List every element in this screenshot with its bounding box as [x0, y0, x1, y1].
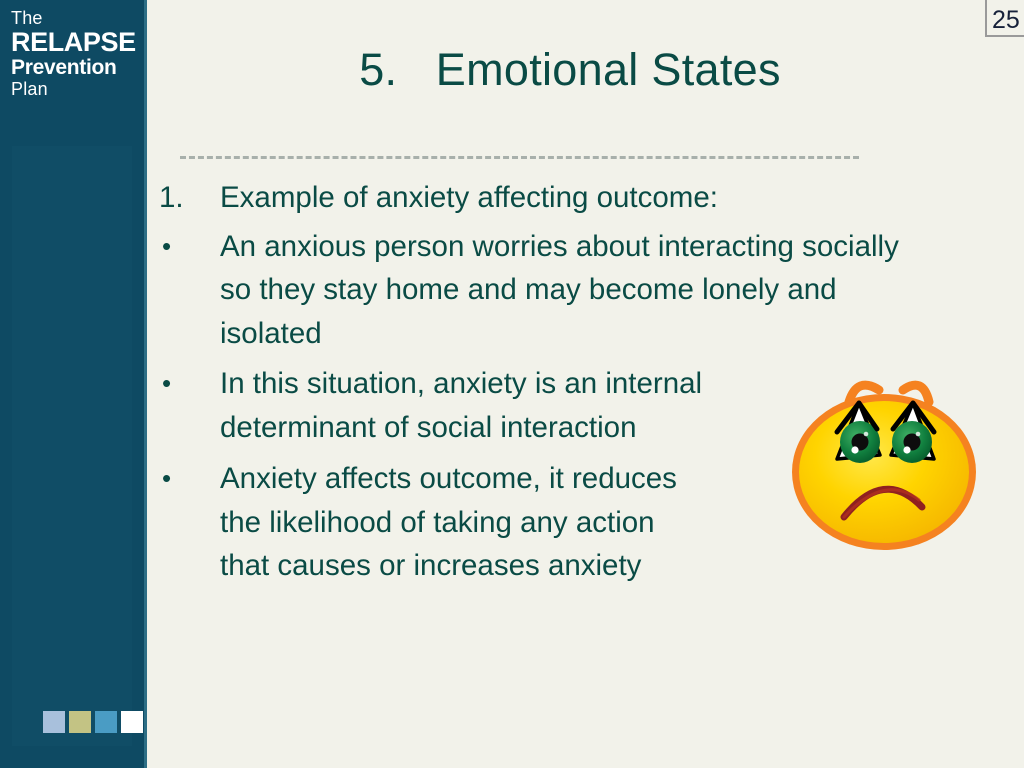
sidebar-edge-stripe	[144, 0, 147, 768]
swatch-row	[43, 711, 143, 733]
list-item-marker: •	[156, 457, 220, 501]
swatch-blue	[95, 711, 117, 733]
swatch-white	[121, 711, 143, 733]
brand-line-relapse: RELAPSE	[11, 29, 143, 56]
list-item: • An anxious person worries about intera…	[156, 225, 986, 356]
page-title: 5. Emotional States	[175, 44, 965, 96]
brand-logo: The RELAPSE Prevention Plan	[11, 9, 143, 98]
list-item-marker: •	[156, 362, 220, 406]
list-item-marker: 1.	[156, 176, 220, 220]
swatch-khaki	[69, 711, 91, 733]
list-item-marker: •	[156, 225, 220, 269]
brand-line-prevention: Prevention	[11, 57, 143, 78]
sidebar: The RELAPSE Prevention Plan	[0, 0, 144, 768]
list-item-text: An anxious person worries about interact…	[220, 225, 986, 356]
list-item: 1. Example of anxiety affecting outcome:	[156, 176, 986, 220]
brand-line-plan: Plan	[11, 80, 143, 98]
page-number-value: 25	[992, 8, 1020, 33]
sidebar-watermark	[12, 146, 132, 746]
divider	[180, 156, 859, 159]
slide: The RELAPSE Prevention Plan 25 5. Emotio…	[0, 0, 1024, 768]
swatch-light-blue	[43, 711, 65, 733]
brand-line-the: The	[11, 9, 143, 27]
sad-face-icon	[787, 372, 982, 557]
list-item-text: Example of anxiety affecting outcome:	[220, 176, 986, 220]
page-number-badge: 25	[985, 0, 1024, 37]
